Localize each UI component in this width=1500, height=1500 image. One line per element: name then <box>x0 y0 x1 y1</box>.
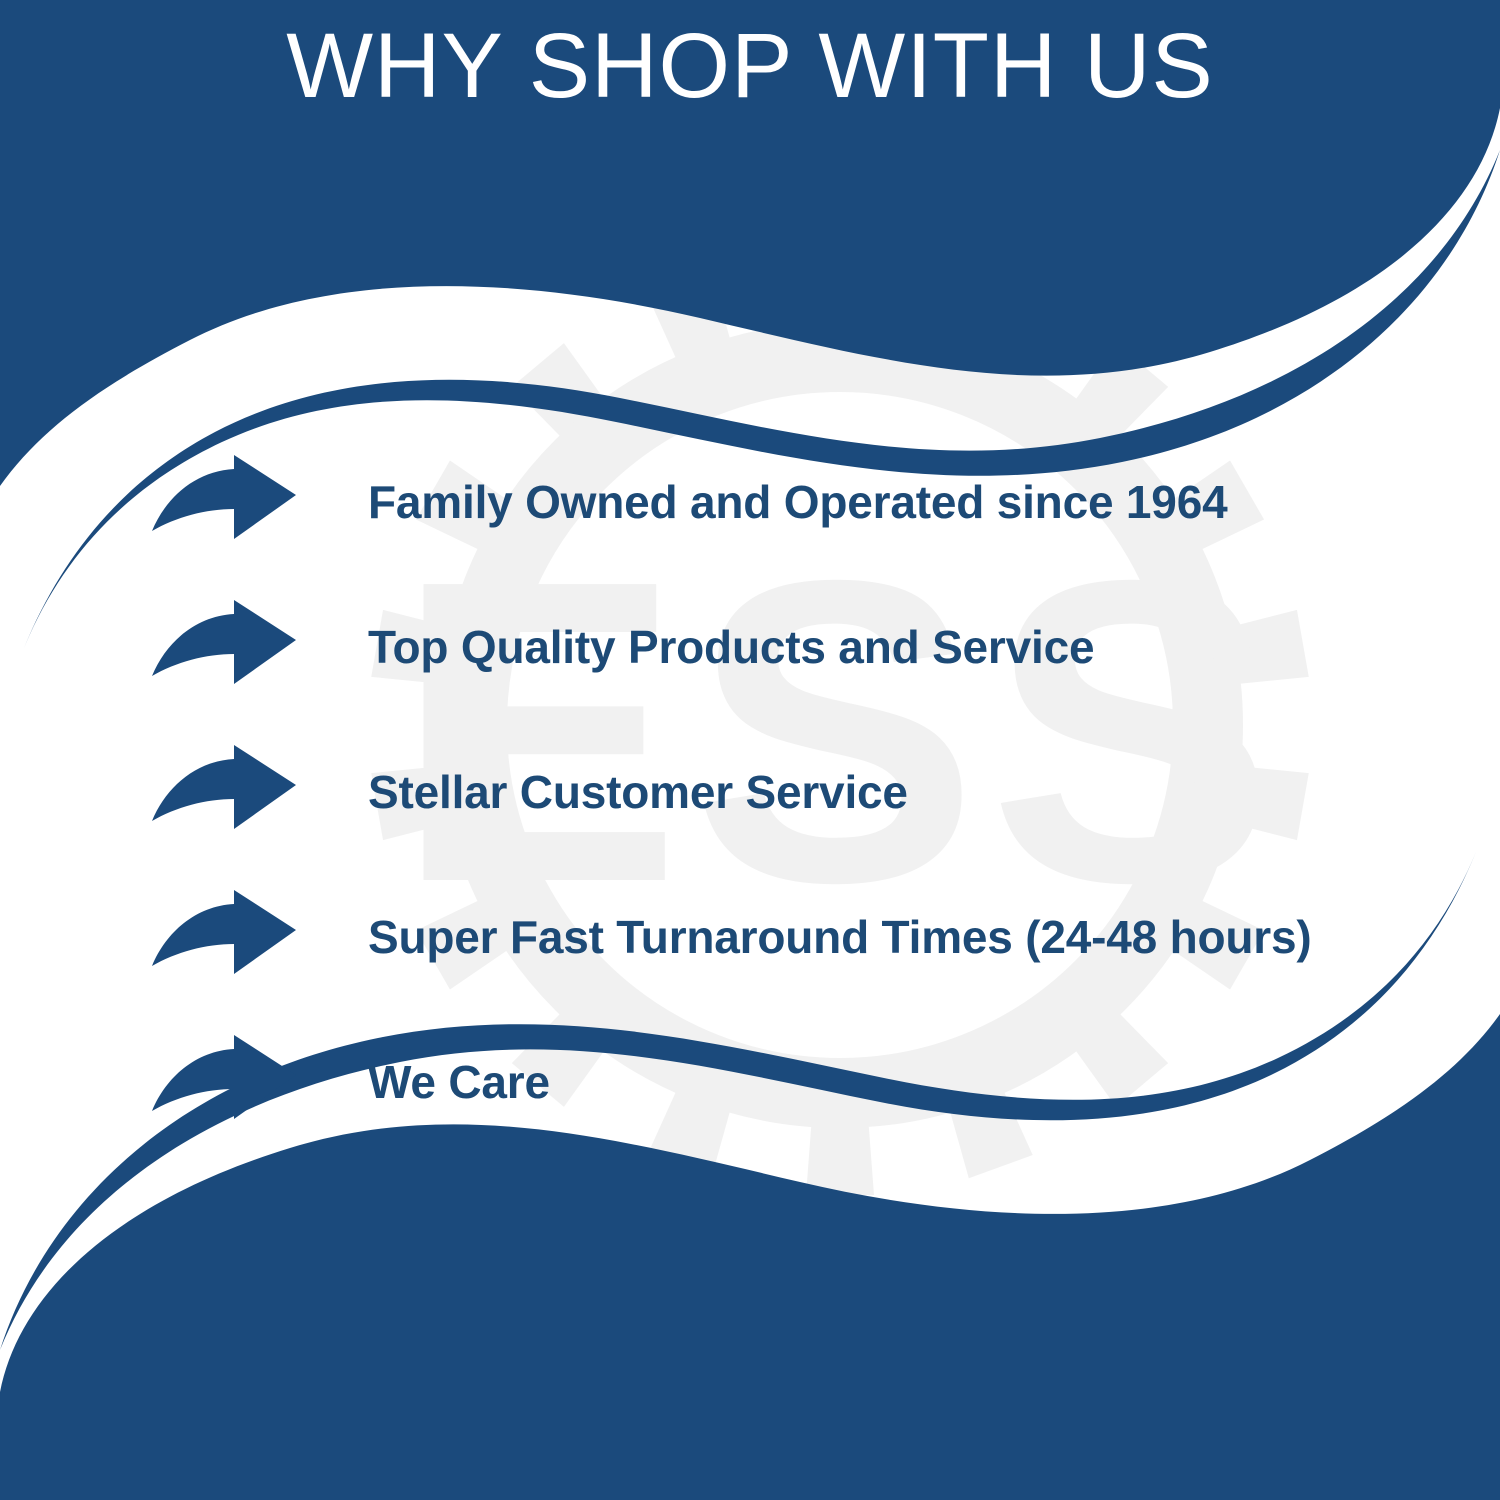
curved-arrow-right-icon <box>150 1033 300 1133</box>
benefit-item: Family Owned and Operated since 1964 <box>0 430 1500 575</box>
benefit-label: Family Owned and Operated since 1964 <box>368 477 1227 528</box>
curved-arrow-right-icon <box>150 743 300 843</box>
poster-canvas: ESS WHY SHOP WITH US Family Owned and Op… <box>0 0 1500 1500</box>
benefit-label: Top Quality Products and Service <box>368 622 1094 673</box>
page-title-container: WHY SHOP WITH US <box>0 18 1500 115</box>
benefit-label: Super Fast Turnaround Times (24-48 hours… <box>368 912 1312 963</box>
curved-arrow-right-icon <box>150 598 300 698</box>
benefit-label: We Care <box>368 1057 550 1108</box>
benefit-label: Stellar Customer Service <box>368 767 908 818</box>
benefit-item: We Care <box>0 1010 1500 1155</box>
benefit-item: Top Quality Products and Service <box>0 575 1500 720</box>
curved-arrow-right-icon <box>150 453 300 553</box>
benefit-item: Stellar Customer Service <box>0 720 1500 865</box>
page-title: WHY SHOP WITH US <box>0 18 1500 115</box>
benefits-list: Family Owned and Operated since 1964 Top… <box>0 430 1500 1155</box>
benefit-item: Super Fast Turnaround Times (24-48 hours… <box>0 865 1500 1010</box>
curved-arrow-right-icon <box>150 888 300 988</box>
